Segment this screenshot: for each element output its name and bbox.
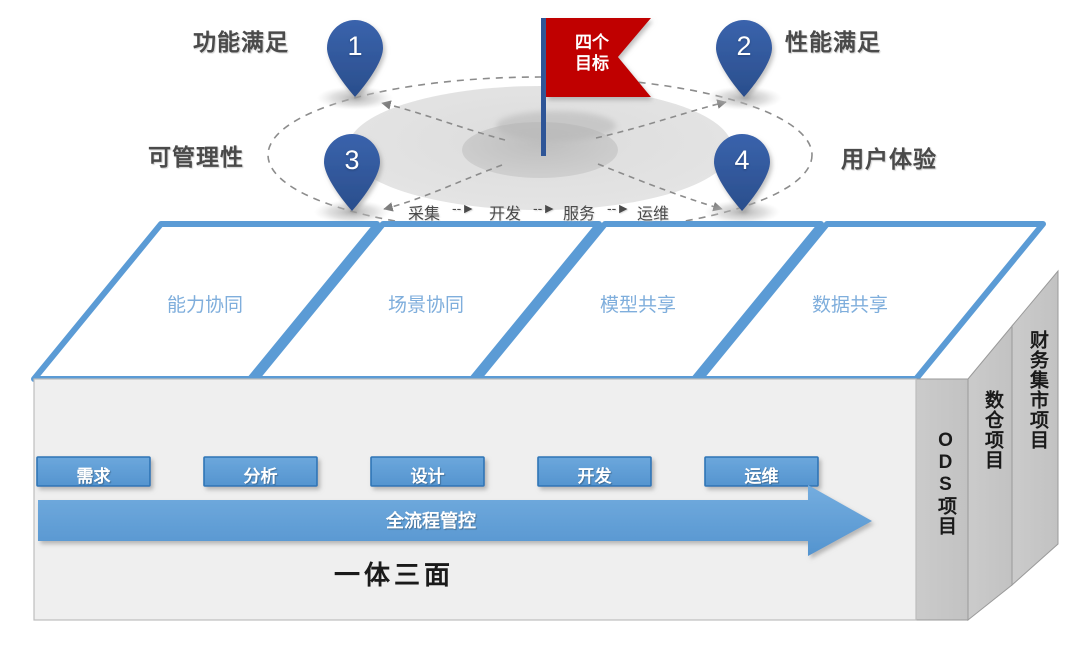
goal-pin-4-number: 4 [720, 145, 764, 176]
flow-step-2: 开发 [489, 200, 521, 224]
goal-label-2: 性能满足 [785, 23, 881, 57]
stage-chip-label-4: 开发 [538, 462, 651, 487]
goal-label-4: 用户体验 [841, 140, 937, 174]
goal-label-3: 可管理性 [148, 138, 244, 172]
stage-chip-label-5: 运维 [705, 462, 818, 487]
process-band-label: 全流程管控 [386, 507, 476, 533]
base-label: 一体三面 [334, 555, 454, 592]
flag-pole [541, 18, 546, 156]
diagram-vector-layer [0, 0, 1080, 651]
top-panel-label-4: 数据共享 [812, 290, 888, 317]
platform-box [34, 224, 1058, 620]
diagram-canvas: 功能满足 性能满足 可管理性 用户体验 1 2 3 4 四个 目标 采集 ‑‑►… [0, 0, 1080, 651]
top-panel-label-3: 模型共享 [600, 290, 676, 317]
stage-chip-label-3: 设计 [371, 462, 484, 487]
flag-label-line2: 目标 [563, 53, 621, 74]
flow-arrow-1: ‑‑► [452, 200, 475, 216]
goal-pin-3-number: 3 [330, 145, 374, 176]
flow-arrow-2: ‑‑► [533, 200, 556, 216]
box-front-face [34, 379, 916, 620]
stage-chip-label-2: 分析 [204, 462, 317, 487]
goal-pin-1-number: 1 [333, 31, 377, 62]
top-panel-label-1: 能力协同 [167, 290, 243, 317]
side-panel-dw [968, 326, 1012, 620]
goal-label-1: 功能满足 [193, 23, 289, 57]
side-panel-label-dw: 数仓项目 [979, 390, 1006, 470]
side-panel-label-ods: ODS项目 [932, 430, 959, 536]
side-panel-label-finance: 财务集市项目 [1024, 330, 1051, 450]
flag-label-line1: 四个 [563, 32, 621, 53]
flow-step-4: 运维 [637, 200, 669, 224]
pole-shadow [496, 111, 616, 141]
flow-arrow-3: ‑‑► [607, 200, 630, 216]
flow-step-1: 采集 [408, 200, 440, 224]
flow-step-3: 服务 [563, 200, 595, 224]
stage-chip-label-1: 需求 [37, 462, 150, 487]
top-panel-label-2: 场景协同 [388, 290, 464, 317]
goal-pin-2-number: 2 [722, 31, 766, 62]
